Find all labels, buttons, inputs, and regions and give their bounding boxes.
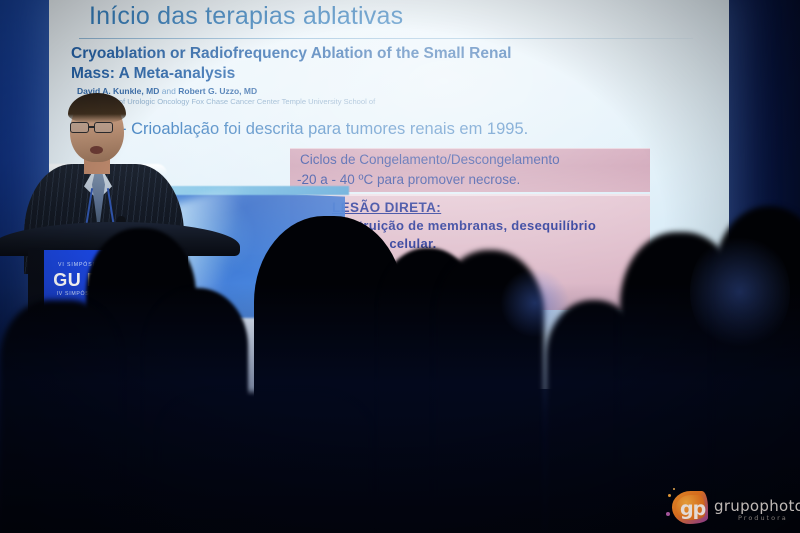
eyeglasses-right-lens-icon xyxy=(94,122,113,133)
audience-member xyxy=(436,250,544,533)
speaker-hair xyxy=(68,93,126,123)
watermark-tagline: Produtora xyxy=(738,514,788,522)
eyeglasses-bridge-icon xyxy=(89,126,95,128)
audience-member xyxy=(714,206,800,533)
watermark-dot-icon xyxy=(668,494,671,497)
slide-subtitle-line1: Cryoablation or Radiofrequency Ablation … xyxy=(71,45,511,63)
watermark-dot-icon xyxy=(673,488,675,490)
box-top-line2: -20 a - 40 ºC para promover necrose. xyxy=(297,172,520,187)
audience-member xyxy=(0,300,120,533)
box-top-line1: Ciclos de Congelamento/Descongelamento xyxy=(300,152,560,167)
watermark-grupophoto: gp grupophoto Produtora xyxy=(672,488,794,528)
slide-title-divider xyxy=(79,38,693,39)
watermark-brand-name: grupophoto xyxy=(714,497,800,515)
speaker-mouth xyxy=(90,146,103,154)
eyeglasses-left-lens-icon xyxy=(70,122,89,133)
watermark-monogram: gp xyxy=(680,498,705,520)
conference-photo-scene: Início das terapias ablativas Cryoablati… xyxy=(0,0,800,533)
watermark-dot-icon xyxy=(666,512,670,516)
slide-subtitle-line2: Mass: A Meta-analysis xyxy=(71,65,235,83)
lesion-direct-heading: LESÃO DIRETA: xyxy=(332,200,441,215)
watermark-badge-shape: gp xyxy=(672,491,708,524)
author-secondary: Robert G. Uzzo, MD xyxy=(178,86,257,96)
author-conjunction: and xyxy=(159,86,178,96)
audience-member xyxy=(160,392,370,533)
slide-title: Início das terapias ablativas xyxy=(89,2,403,31)
